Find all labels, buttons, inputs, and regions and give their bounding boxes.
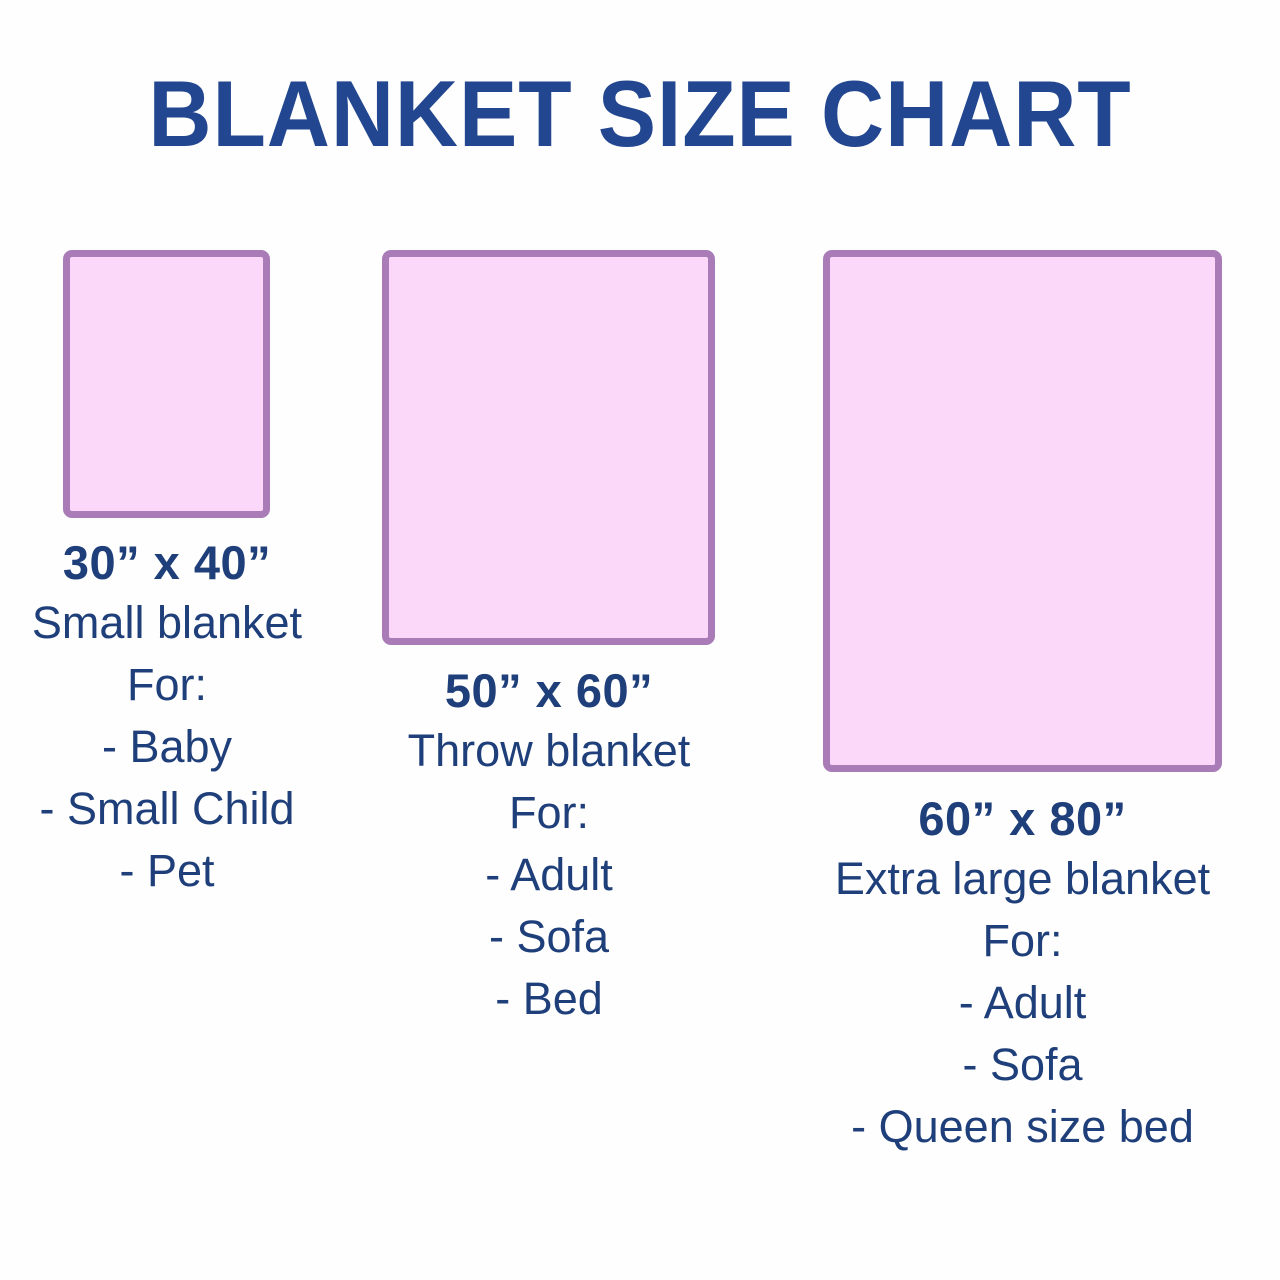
blanket-swatch-xlarge: [823, 250, 1222, 772]
blanket-swatch-throw: [382, 250, 715, 645]
size-caption-small: 30” x 40” Small blanket For: - Baby - Sm…: [0, 534, 376, 902]
blanket-size-chart-infographic: BLANKET SIZE CHART 30” x 40” Small blank…: [0, 0, 1280, 1280]
use-list-small: - Baby - Small Child - Pet: [0, 716, 376, 902]
list-item: - Small Child: [0, 778, 376, 840]
use-list-xlarge: - Adult - Sofa - Queen size bed: [790, 972, 1255, 1158]
blanket-type-label-xlarge: Extra large blanket: [790, 848, 1255, 910]
blanket-type-label-small: Small blanket: [0, 592, 376, 654]
for-label-throw: For:: [339, 782, 759, 844]
list-item: - Sofa: [339, 906, 759, 968]
list-item: - Pet: [0, 840, 376, 902]
size-caption-xlarge: 60” x 80” Extra large blanket For: - Adu…: [790, 790, 1255, 1158]
list-item: - Sofa: [790, 1034, 1255, 1096]
for-label-xlarge: For:: [790, 910, 1255, 972]
dimension-label-throw: 50” x 60”: [339, 662, 759, 720]
page-title: BLANKET SIZE CHART: [45, 64, 1235, 164]
blanket-swatch-small: [63, 250, 270, 518]
list-item: - Baby: [0, 716, 376, 778]
dimension-label-xlarge: 60” x 80”: [790, 790, 1255, 848]
size-caption-throw: 50” x 60” Throw blanket For: - Adult - S…: [339, 662, 759, 1030]
list-item: - Queen size bed: [790, 1096, 1255, 1158]
list-item: - Adult: [790, 972, 1255, 1034]
use-list-throw: - Adult - Sofa - Bed: [339, 844, 759, 1030]
for-label-small: For:: [0, 654, 376, 716]
list-item: - Bed: [339, 968, 759, 1030]
blanket-type-label-throw: Throw blanket: [339, 720, 759, 782]
list-item: - Adult: [339, 844, 759, 906]
dimension-label-small: 30” x 40”: [0, 534, 376, 592]
